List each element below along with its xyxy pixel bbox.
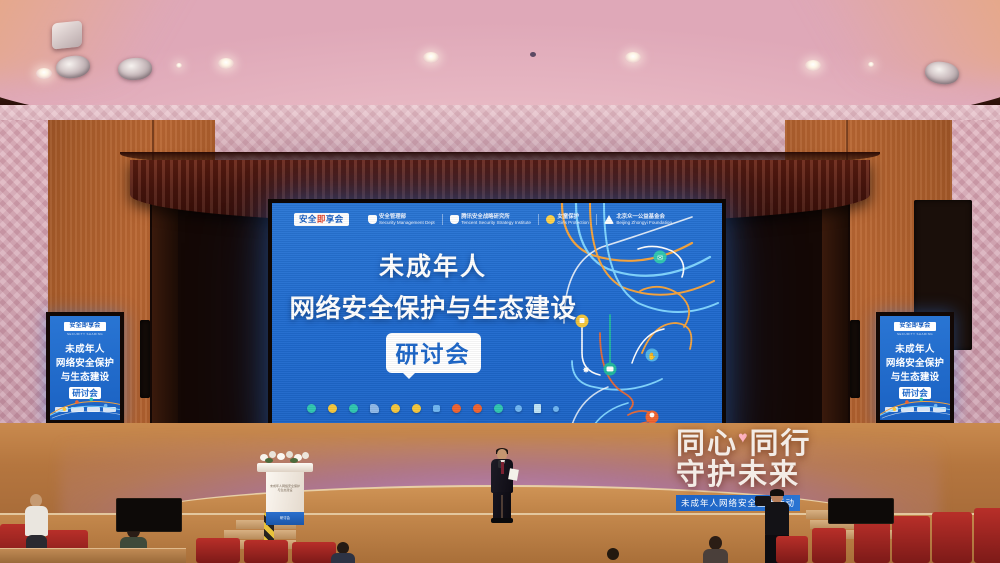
lectern: 未成年人网络安全保护与生态建设 研讨会 xyxy=(262,449,308,525)
poster-logo-subtitle: SECURITY SHARING xyxy=(50,332,120,336)
flower xyxy=(286,451,293,458)
speaker-leg-gap xyxy=(501,495,503,519)
lectern-plate: 未成年人网络安全保护与生态建设 xyxy=(269,483,301,492)
audience-body xyxy=(703,549,728,563)
poster-title-line-1: 未成年人 xyxy=(880,341,950,355)
ceiling-downlight xyxy=(868,62,874,67)
wall-monitor xyxy=(828,498,894,524)
auditorium-photo: 安全即享会 SECURITY SHARING 未成年人 网络安全保护 与生态建设… xyxy=(0,0,1000,563)
seat xyxy=(854,520,890,563)
microphone xyxy=(498,460,501,468)
poster-title-line-3: 与生态建设 xyxy=(880,369,950,383)
wall-monitor xyxy=(116,498,182,532)
poster-logo-subtitle: SECURITY SHARING xyxy=(880,332,950,336)
cameraman-hair xyxy=(770,489,784,496)
ceiling-downlight xyxy=(805,60,821,71)
poster-arc-graphic xyxy=(50,386,120,420)
video-camera xyxy=(755,496,771,506)
flower xyxy=(302,452,309,459)
heart-icon: ♥ xyxy=(738,429,750,446)
seat xyxy=(812,528,846,563)
poster-logo: 安全即享会 xyxy=(894,322,936,331)
speaker-notes xyxy=(508,468,519,480)
attendee-shirt xyxy=(25,506,48,536)
cameraman-shirt xyxy=(765,502,789,536)
flower xyxy=(277,453,285,460)
lectern-sign: 研讨会 xyxy=(266,512,304,525)
lectern-top xyxy=(257,463,313,472)
audience-head xyxy=(709,536,722,550)
ceiling-downlight xyxy=(36,68,52,79)
poster-title-line-1: 未成年人 xyxy=(50,341,120,355)
speaker-on-stage xyxy=(484,449,520,523)
seat xyxy=(974,508,1000,563)
ceiling-downlight xyxy=(423,52,439,63)
audience-body xyxy=(331,553,355,563)
ceiling-downlight xyxy=(530,52,536,57)
poster-title-line-3: 与生态建设 xyxy=(50,369,120,383)
seat xyxy=(776,536,808,563)
audience-member xyxy=(600,548,626,563)
poster-arc-graphic xyxy=(880,386,950,420)
speaker-shoes xyxy=(491,518,513,523)
ceiling-downlight xyxy=(176,63,182,68)
wall-vent-panel xyxy=(850,320,860,398)
ceiling-downlight xyxy=(625,52,641,63)
wall-vent-panel xyxy=(140,320,150,398)
audience-member xyxy=(700,536,730,563)
ceiling-speaker xyxy=(52,20,82,49)
side-poster-left: 安全即享会 SECURITY SHARING 未成年人 网络安全保护 与生态建设… xyxy=(46,312,124,424)
audience-head xyxy=(607,548,619,560)
audience-member xyxy=(330,542,356,563)
banner-line-2: 守护未来 xyxy=(676,461,904,490)
banner-line-1-b: 同行 xyxy=(750,428,812,460)
audience-rail xyxy=(0,548,186,563)
poster-title-line-2: 网络安全保护 xyxy=(50,355,120,369)
flower xyxy=(269,451,276,458)
seat xyxy=(892,516,930,563)
banner-line-1: 同心♥同行 xyxy=(676,430,904,459)
poster-logo: 安全即享会 xyxy=(64,322,106,331)
seat xyxy=(244,540,288,563)
seat xyxy=(196,538,240,563)
seat xyxy=(932,512,972,563)
poster-title-line-2: 网络安全保护 xyxy=(880,355,950,369)
speaker-tie xyxy=(501,462,504,474)
banner-line-1-a: 同心 xyxy=(676,428,738,460)
ceiling-downlight xyxy=(218,58,234,69)
side-poster-right: 安全即享会 SECURITY SHARING 未成年人 网络安全保护 与生态建设… xyxy=(876,312,954,424)
